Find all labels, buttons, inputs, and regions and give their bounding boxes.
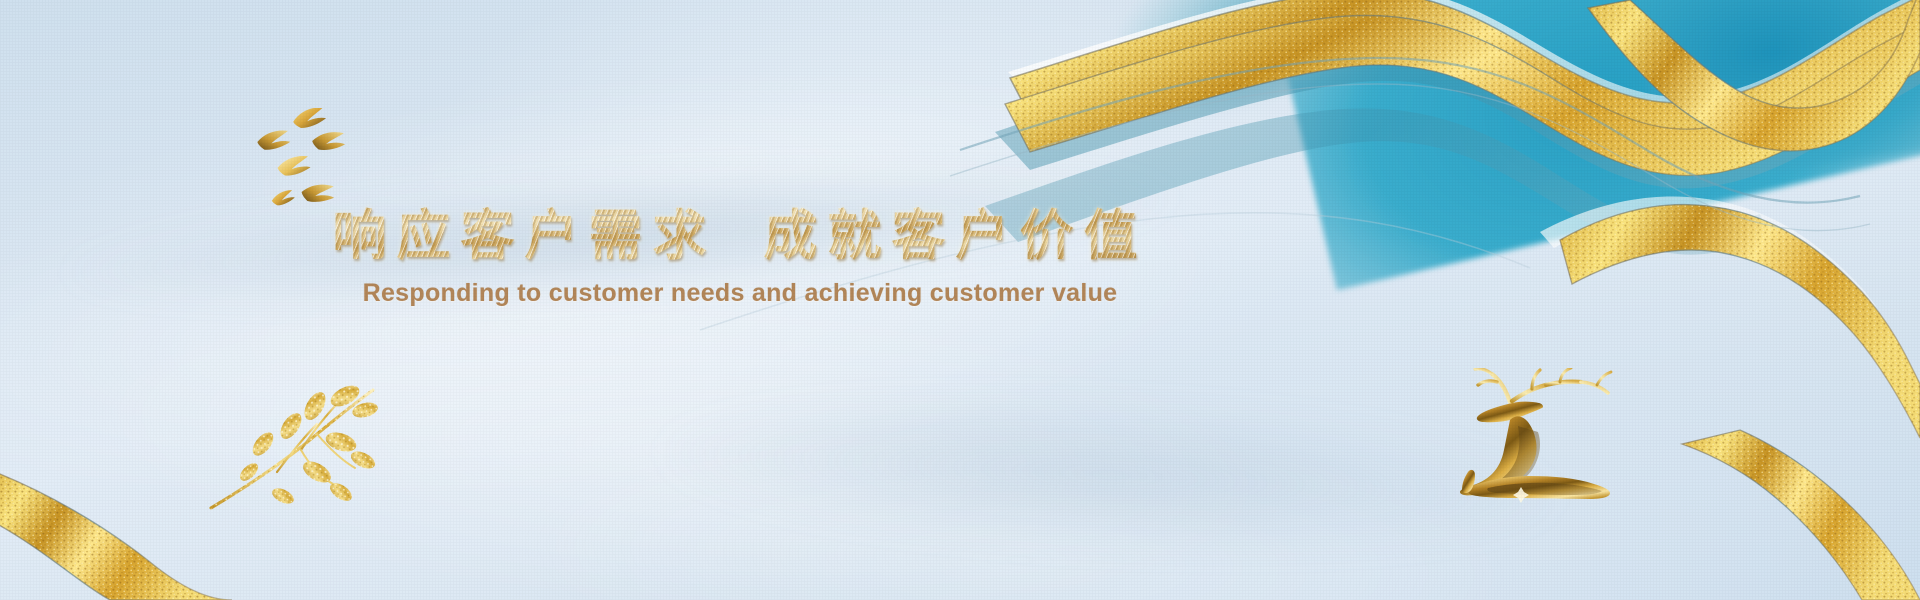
leaf-icon bbox=[270, 485, 297, 507]
bird-icon bbox=[271, 189, 296, 206]
gold-leaf-branch-icon bbox=[205, 368, 395, 513]
leaf-icon bbox=[276, 410, 305, 443]
golden-deer-icon bbox=[1448, 368, 1628, 503]
leaf-icon bbox=[348, 448, 378, 472]
page-subtitle: Responding to customer needs and achievi… bbox=[0, 279, 1480, 308]
bird-icon bbox=[300, 182, 335, 205]
gold-vein-bottom-left bbox=[0, 470, 232, 600]
gold-vein-bottom-right bbox=[1682, 430, 1920, 600]
headline-block: 响应客户需求 成就客户价值 Responding to customer nee… bbox=[0, 205, 1480, 308]
deer-body bbox=[1460, 402, 1610, 503]
bird-icon bbox=[277, 156, 311, 176]
leaf-icon bbox=[323, 429, 358, 455]
bird-icon bbox=[312, 130, 346, 151]
bird-icon bbox=[292, 108, 327, 129]
page-title: 响应客户需求 成就客户价值 bbox=[0, 205, 1480, 269]
hero-banner: 响应客户需求 成就客户价值 Responding to customer nee… bbox=[0, 0, 1920, 600]
leaf-icon bbox=[249, 429, 277, 460]
bird-icon bbox=[257, 130, 291, 150]
deer-antlers bbox=[1475, 368, 1611, 402]
